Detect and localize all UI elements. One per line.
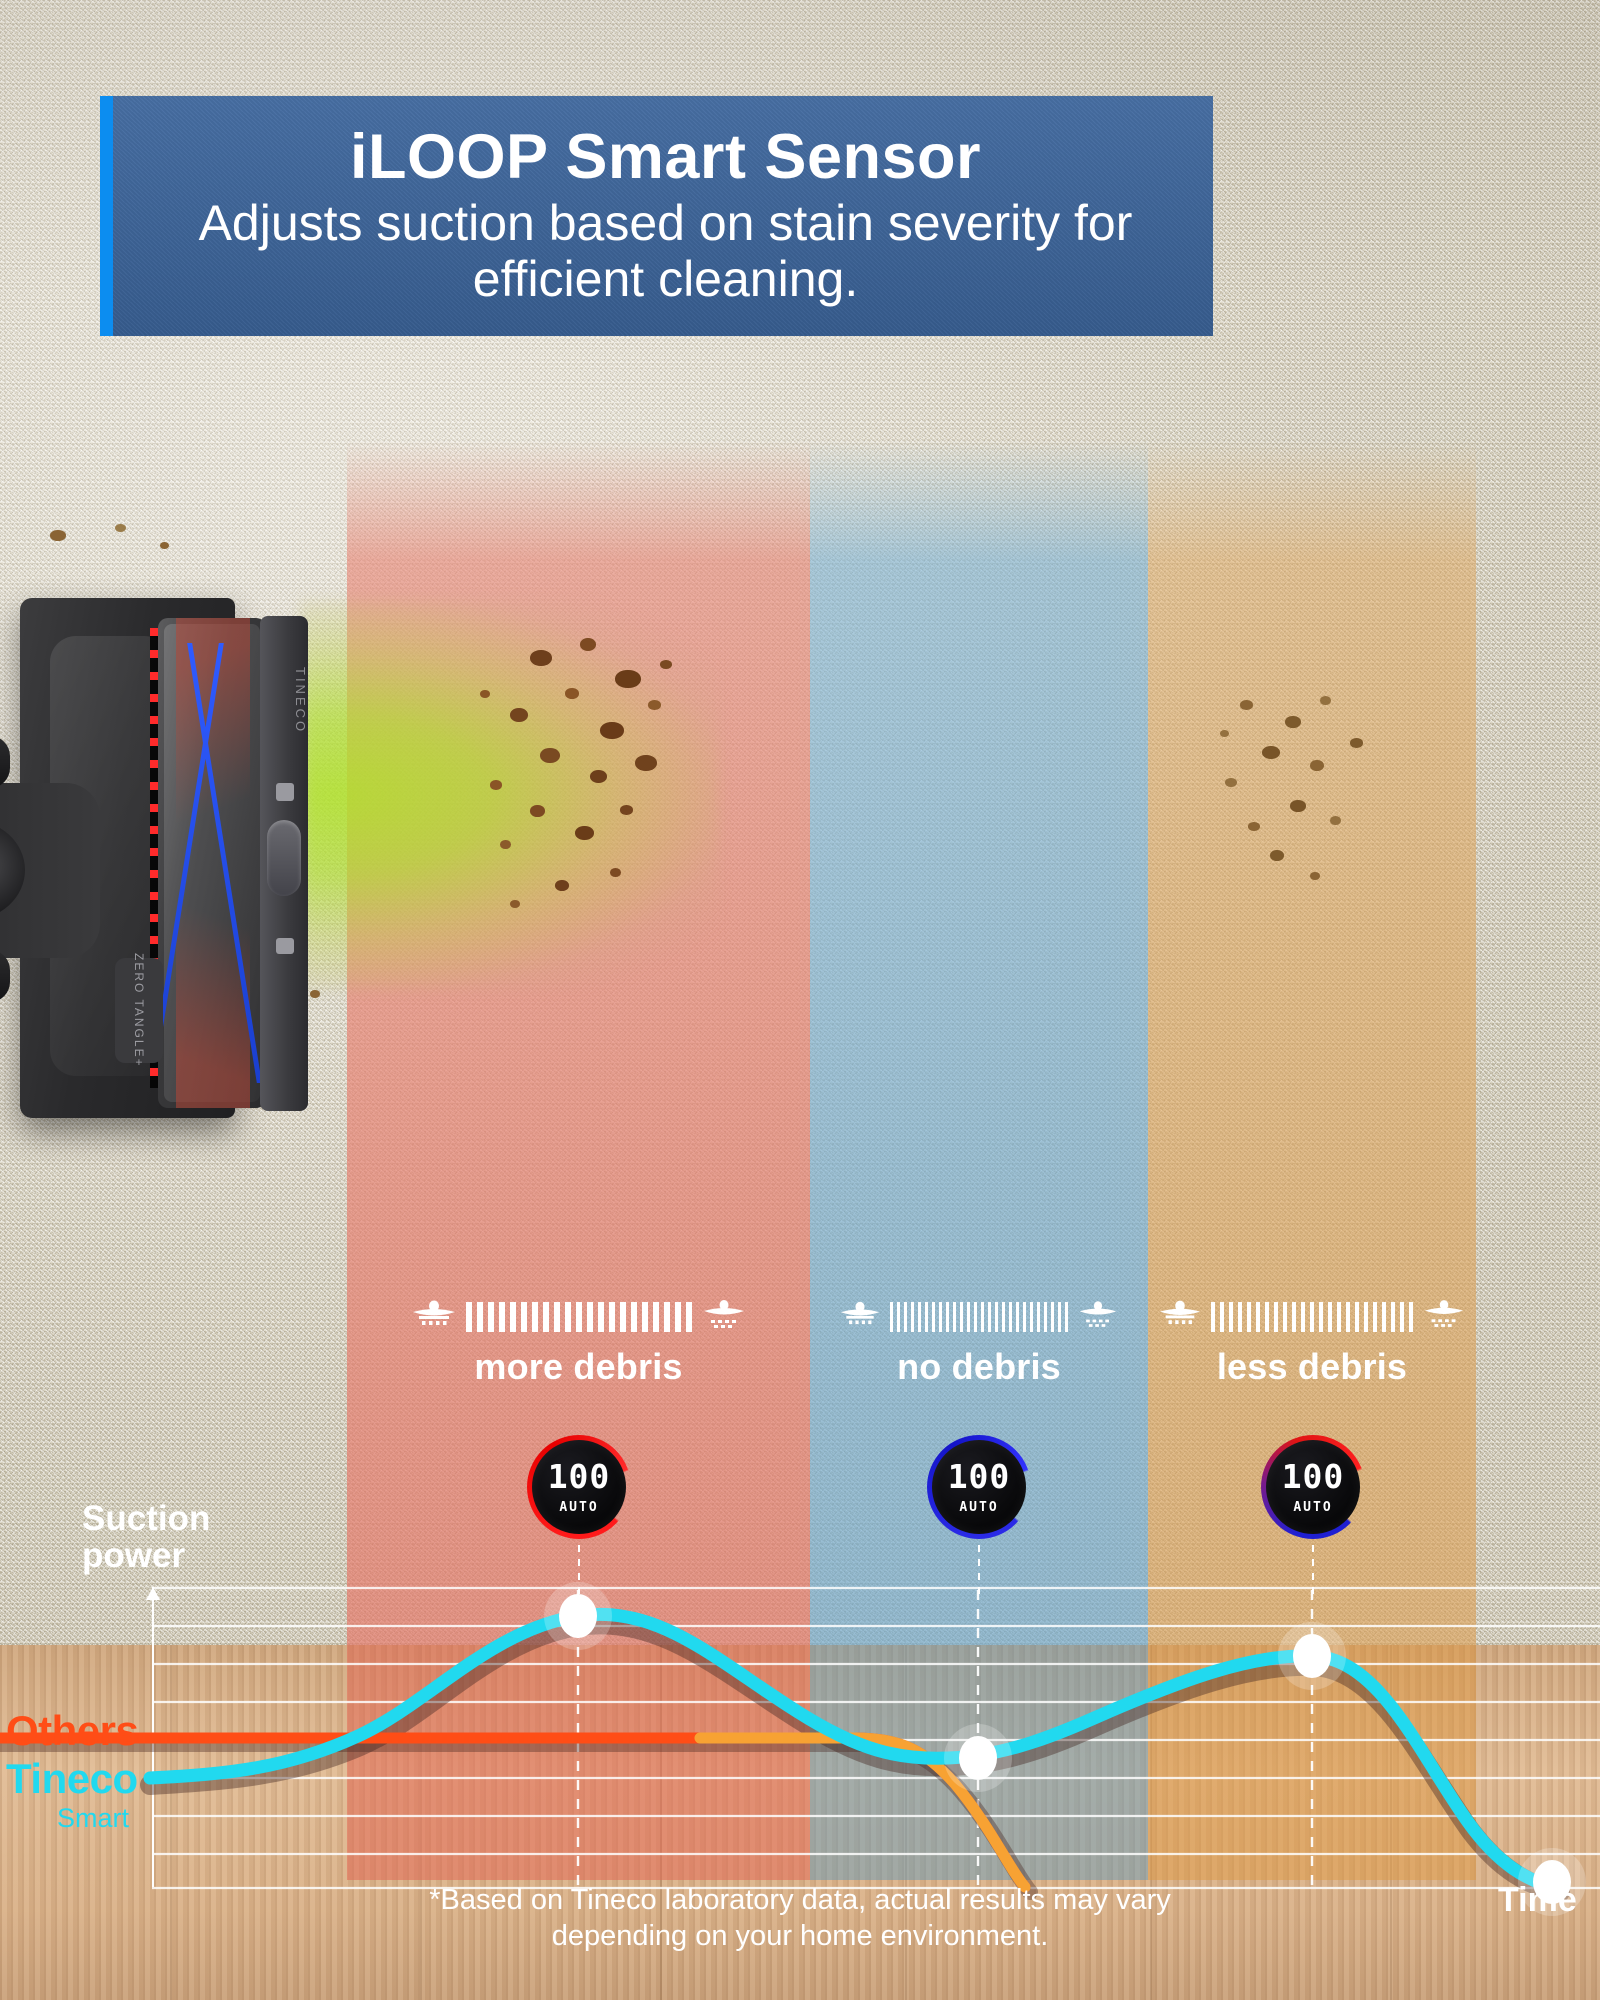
nozzle-spray-icon xyxy=(1422,1300,1466,1334)
nozzle-spray-icon xyxy=(701,1300,747,1335)
suction-power-chart xyxy=(0,1530,1600,1930)
dial-face: 100 AUTO xyxy=(532,1440,626,1534)
dial-face: 100 AUTO xyxy=(932,1440,1026,1534)
vacuum-slider-control[interactable] xyxy=(267,820,301,896)
suction-meter-none xyxy=(810,1300,1148,1334)
debris-cluster-heavy xyxy=(470,630,770,930)
zone-label-more-debris: more debris xyxy=(347,1300,810,1388)
zone-label-less-debris: less debris xyxy=(1148,1300,1476,1388)
vacuum-brand-mark: TINECO xyxy=(260,656,308,746)
debris-cluster-light xyxy=(1200,690,1420,920)
footnote-line1: *Based on Tineco laboratory data, actual… xyxy=(0,1882,1600,1918)
dial-mode: AUTO xyxy=(959,1500,998,1515)
vacuum-water-icon xyxy=(276,938,294,954)
dial-value: 100 xyxy=(948,1460,1011,1493)
legend-tineco-sub: Smart xyxy=(57,1803,129,1834)
suction-meter-bars xyxy=(1211,1302,1413,1332)
zero-tangle-label: ZERO TANGLE+ xyxy=(132,953,146,1068)
nozzle-spray-icon xyxy=(1077,1301,1119,1334)
suction-meter-more xyxy=(347,1300,810,1334)
suction-dial-more-debris: 100 AUTO xyxy=(527,1435,631,1539)
dial-mode: AUTO xyxy=(1293,1500,1332,1515)
dial-value: 100 xyxy=(548,1460,611,1493)
suction-meter-bars xyxy=(466,1302,692,1332)
zone-label-no-debris: no debris xyxy=(810,1300,1148,1388)
nozzle-icon xyxy=(1158,1300,1202,1334)
dial-face: 100 AUTO xyxy=(1266,1440,1360,1534)
suction-dial-no-debris: 100 AUTO xyxy=(927,1435,1031,1539)
suction-dial-less-debris: 100 AUTO xyxy=(1261,1435,1365,1539)
dial-value: 100 xyxy=(1282,1460,1345,1493)
page-title: iLOOP Smart Sensor xyxy=(350,125,981,189)
vacuum-floor-head: TINECO ZERO TANGLE+ xyxy=(0,598,350,1118)
suction-meter-less xyxy=(1148,1300,1476,1334)
vacuum-roller-window xyxy=(158,618,266,1108)
zone-label-text: more debris xyxy=(347,1346,810,1388)
zero-tangle-badge: ZERO TANGLE+ xyxy=(115,958,163,1063)
dial-mode: AUTO xyxy=(559,1500,598,1515)
infographic-canvas: TINECO ZERO TANGLE+ iLOOP Smart Sensor A… xyxy=(0,0,1600,2000)
banner-accent-bar xyxy=(100,96,113,336)
suction-meter-bars xyxy=(890,1302,1068,1332)
page-subtitle: Adjusts suction based on stain severity … xyxy=(136,195,1196,307)
footnote-line2: depending on your home environment. xyxy=(0,1918,1600,1954)
header-banner: iLOOP Smart Sensor Adjusts suction based… xyxy=(100,96,1213,336)
nozzle-icon xyxy=(411,1300,457,1335)
zone-label-text: no debris xyxy=(810,1346,1148,1388)
vacuum-wheel-top xyxy=(0,736,10,788)
footnote: *Based on Tineco laboratory data, actual… xyxy=(0,1882,1600,1955)
vacuum-suction-icon xyxy=(276,783,294,801)
nozzle-icon xyxy=(839,1301,881,1334)
zone-label-text: less debris xyxy=(1148,1346,1476,1388)
legend-others: Others xyxy=(6,1707,138,1755)
legend-tineco: Tineco xyxy=(6,1755,138,1803)
